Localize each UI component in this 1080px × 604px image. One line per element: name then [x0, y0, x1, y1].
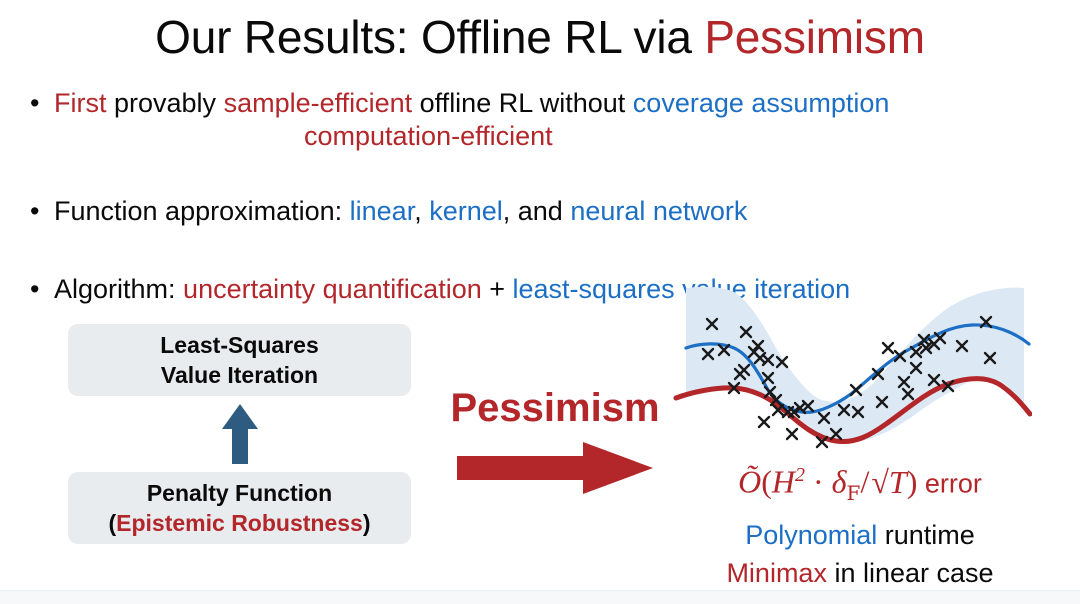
pessimism-label: Pessimism	[425, 386, 685, 431]
bullet-2-seg-5: , and	[503, 196, 571, 226]
bullet-1-seg-2: provably	[114, 88, 224, 118]
bullet-item-1: • First provably sample-efficient offlin…	[22, 86, 1062, 120]
minimax-plain: in linear case	[827, 558, 994, 588]
bullet-marker: •	[30, 194, 39, 228]
bullet-1-seg-4: offline RL without	[420, 88, 633, 118]
error-rate-formula: Õ(H2 · δF/√T) error	[660, 452, 1060, 516]
bottom-strip	[0, 590, 1080, 604]
bullet-2-seg-1: Function approximation:	[54, 196, 350, 226]
formula-delta: δ	[832, 464, 847, 500]
formula-open-paren: (	[761, 464, 772, 500]
bullet-2-seg-3: ,	[414, 196, 429, 226]
page-title: Our Results: Offline RL via Pessimism	[0, 8, 1080, 66]
formula-delta-subscript: F	[847, 481, 861, 505]
formula-sqrt-group: √T	[869, 459, 906, 505]
right-arrow-icon	[455, 440, 655, 496]
penalty-function-box: Penalty Function (Epistemic Robustness)	[68, 472, 411, 544]
polynomial-runtime-line: Polynomial runtime	[660, 516, 1060, 554]
bullet-3-seg-1: Algorithm:	[54, 274, 183, 304]
polynomial-plain: runtime	[877, 520, 975, 550]
title-accent-text: Pessimism	[704, 11, 925, 63]
bullet-1-subline: computation-efficient	[304, 120, 1062, 152]
chart-captions: Õ(H2 · δF/√T) error Polynomial runtime M…	[660, 452, 1060, 592]
paren-open: (	[108, 510, 116, 536]
formula-error-word: error	[917, 469, 982, 499]
formula-slash: /	[860, 464, 869, 500]
epistemic-robustness-text: Epistemic Robustness	[116, 510, 363, 536]
lsvi-box-line2: Value Iteration	[161, 360, 318, 390]
title-plain-text: Our Results: Offline RL via	[155, 11, 704, 63]
formula-close-paren: )	[907, 464, 918, 500]
bullet-2-seg-6: neural network	[570, 196, 747, 226]
minimax-linear-case-line: Minimax in linear case	[660, 554, 1060, 592]
penalty-box-line1: Penalty Function	[147, 478, 332, 508]
bullet-item-2: • Function approximation: linear, kernel…	[22, 194, 1062, 228]
up-arrow-icon	[218, 403, 262, 465]
penalty-box-line2: (Epistemic Robustness)	[108, 508, 370, 538]
bullet-2-seg-4: kernel	[429, 196, 503, 226]
polynomial-accent: Polynomial	[745, 520, 877, 550]
minimax-accent: Minimax	[726, 558, 827, 588]
bullet-list: • First provably sample-efficient offlin…	[22, 86, 1062, 306]
bullet-1-seg-3: sample-efficient	[224, 88, 420, 118]
bullet-1-seg-5: coverage assumption	[633, 88, 890, 118]
bullet-marker: •	[30, 272, 39, 306]
bullet-1-seg-1: First	[54, 88, 114, 118]
formula-o-tilde: Õ	[738, 464, 761, 500]
formula-exponent: 2	[795, 464, 805, 486]
formula-h: H	[772, 464, 795, 500]
least-squares-value-iteration-box: Least-Squares Value Iteration	[68, 324, 411, 396]
bullet-marker: •	[30, 86, 39, 120]
uncertainty-chart	[672, 286, 1032, 456]
formula-sqrt-symbol: √	[871, 464, 889, 500]
formula-t: T	[889, 464, 907, 500]
bullet-3-seg-3: +	[482, 274, 513, 304]
bullet-2-seg-2: linear	[350, 196, 415, 226]
paren-close: )	[363, 510, 371, 536]
lsvi-box-line1: Least-Squares	[160, 330, 319, 360]
bullet-3-seg-2: uncertainty quantification	[183, 274, 482, 304]
formula-dot: ·	[805, 464, 832, 500]
uncertainty-band	[686, 287, 1024, 443]
